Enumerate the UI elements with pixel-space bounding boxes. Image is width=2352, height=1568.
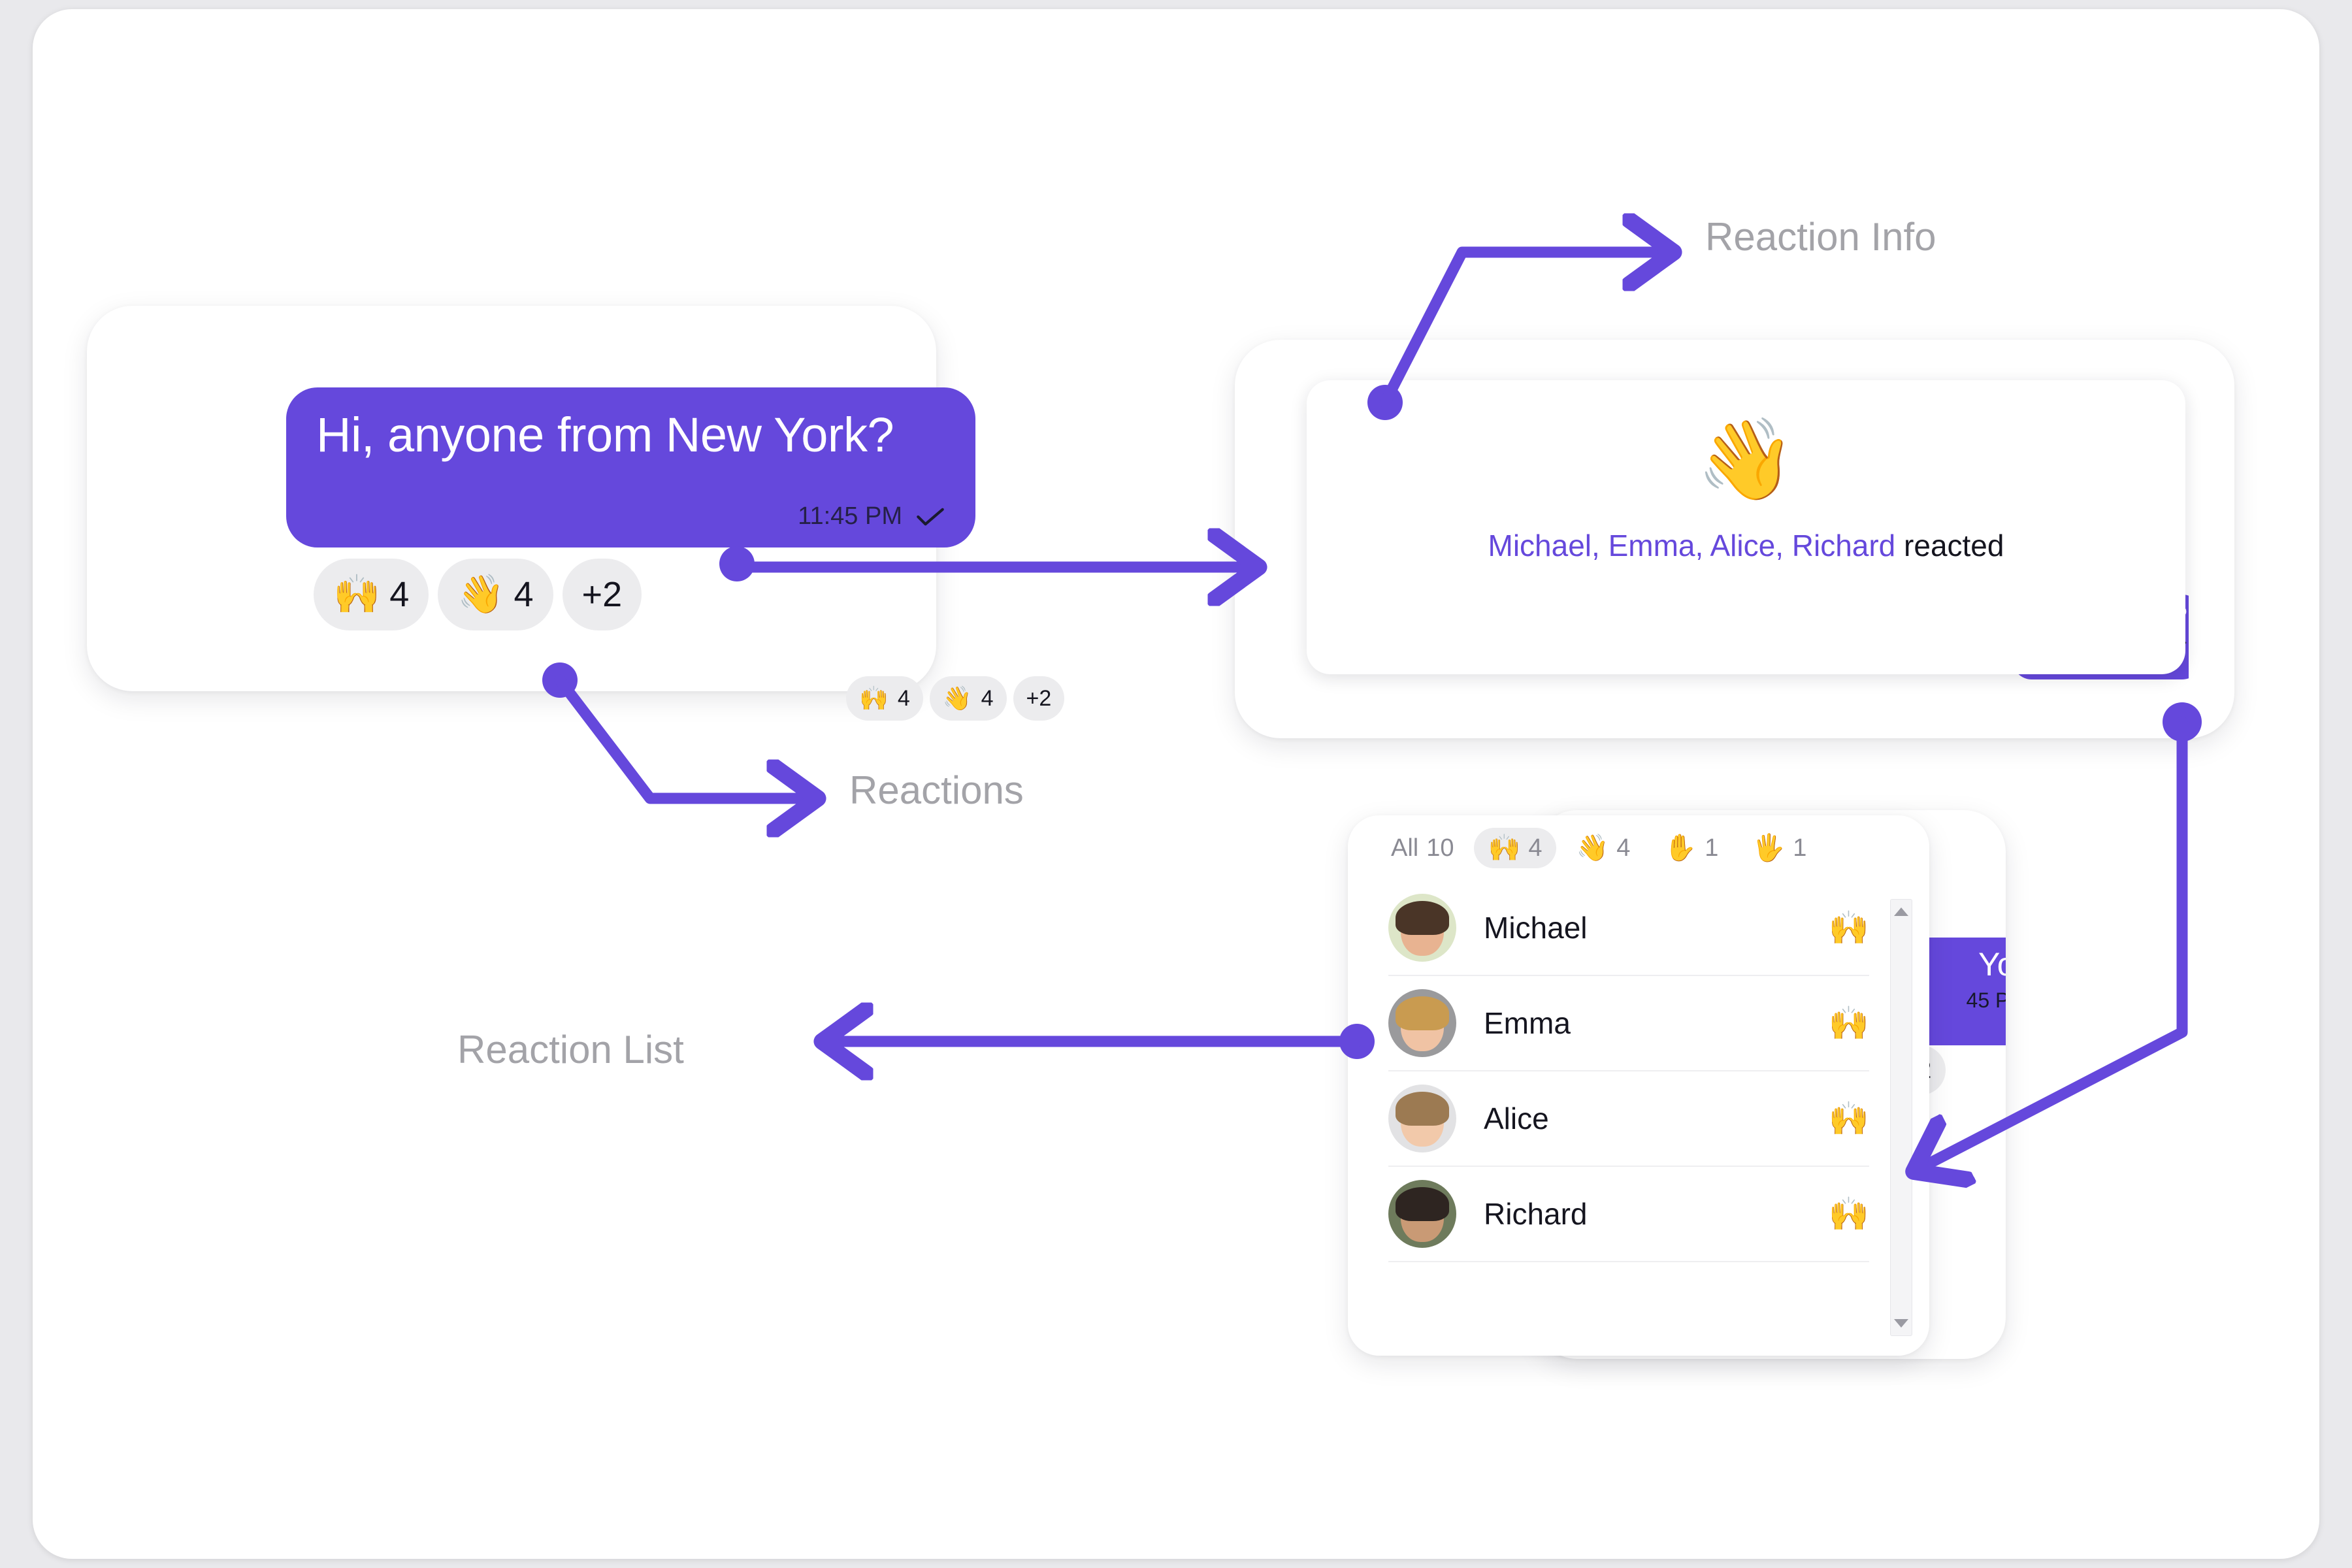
reaction-chip[interactable]: 🙌 4 xyxy=(314,559,429,630)
outgoing-message-bubble[interactable]: Hi, anyone from New York? 11:45 PM xyxy=(286,387,975,547)
list-item-name: Alice xyxy=(1484,1101,1549,1136)
reaction-count: 4 xyxy=(898,687,910,710)
scroll-up-arrow[interactable] xyxy=(1894,907,1908,916)
reaction-info-sheet: 👋 Michael, Emma, Alice, Richard reacted xyxy=(1307,380,2185,674)
tab-raised-hand[interactable]: ✋ 1 xyxy=(1650,828,1733,868)
raising-hands-emoji: 🙌 xyxy=(1829,1198,1869,1230)
raising-hands-emoji: 🙌 xyxy=(1829,911,1869,944)
message-text: Hi, anyone from New York? xyxy=(316,411,945,459)
alice-avatar xyxy=(1388,1085,1456,1152)
reaction-info-card: k? 45 PM 👋 Michael, Emma, Alice, Richard… xyxy=(1235,340,2234,738)
reactor-names: Michael, Emma, Alice, Richard xyxy=(1488,529,1896,563)
raising-hands-emoji: 🙌 xyxy=(333,576,380,613)
tab-count: 1 xyxy=(1793,834,1806,862)
screenshot-stage: Hi, anyone from New York? 11:45 PM 🙌 4 👋… xyxy=(0,0,2352,1568)
reaction-count: 4 xyxy=(514,577,533,612)
raised-hand-emoji: ✋ xyxy=(1664,835,1697,861)
list-item-name: Richard xyxy=(1484,1196,1588,1232)
list-scrollbar[interactable] xyxy=(1890,899,1912,1336)
tab-all-reactions[interactable]: All 10 xyxy=(1377,828,1469,868)
tab-count: 4 xyxy=(1616,834,1630,862)
raising-hands-emoji: 🙌 xyxy=(1829,1102,1869,1135)
reacted-summary: Michael, Emma, Alice, Richard reacted xyxy=(1488,528,2004,563)
check-icon xyxy=(915,507,945,527)
reaction-count: 4 xyxy=(389,577,409,612)
tab-waving-hand[interactable]: 👋 4 xyxy=(1561,828,1644,868)
waving-hand-emoji: 👋 xyxy=(943,687,972,710)
reacted-verb: reacted xyxy=(1895,529,2004,563)
scroll-down-arrow[interactable] xyxy=(1894,1319,1908,1328)
background-reaction-chips: 🙌 4 👋 4 +2 xyxy=(846,676,1064,721)
message-reaction-chips: 🙌 4 👋 4 +2 xyxy=(314,559,642,630)
tab-hand-splayed[interactable]: 🖐 1 xyxy=(1738,828,1821,868)
reaction-filter-tabs: All 10 🙌 4 👋 4 ✋ 1 🖐 1 xyxy=(1348,815,1929,881)
raised-hand-fingers-splayed-emoji: 🖐 xyxy=(1752,835,1785,861)
more-reactions-count: +2 xyxy=(1026,687,1052,710)
reaction-chip[interactable]: 👋 4 xyxy=(438,559,553,630)
richard-avatar xyxy=(1388,1180,1456,1248)
message-meta: 11:45 PM xyxy=(798,502,945,531)
emma-avatar xyxy=(1388,989,1456,1057)
tab-label: All xyxy=(1391,834,1418,862)
background-phone-time: 45 PM xyxy=(1967,988,2006,1013)
message-time: 11:45 PM xyxy=(798,502,902,531)
more-reactions-count: +2 xyxy=(582,577,623,612)
more-reactions-chip[interactable]: +2 xyxy=(1013,676,1065,721)
list-item[interactable]: Richard 🙌 xyxy=(1388,1167,1869,1262)
reaction-list-card: All 10 🙌 4 👋 4 ✋ 1 🖐 1 xyxy=(1348,815,1929,1356)
waving-hand-emoji: 👋 xyxy=(457,576,504,613)
reaction-user-list: Michael 🙌 Emma 🙌 Alice 🙌 xyxy=(1348,881,1882,1356)
michael-avatar xyxy=(1388,894,1456,962)
list-item-name: Michael xyxy=(1484,910,1588,945)
chat-message-card: Hi, anyone from New York? 11:45 PM xyxy=(87,306,936,691)
list-item-name: Emma xyxy=(1484,1005,1571,1041)
raising-hands-emoji: 🙌 xyxy=(1488,835,1521,861)
reaction-chip[interactable]: 👋 4 xyxy=(930,676,1007,721)
more-reactions-chip[interactable]: +2 xyxy=(563,559,642,630)
tab-count: 10 xyxy=(1426,834,1454,862)
list-item[interactable]: Alice 🙌 xyxy=(1388,1071,1869,1167)
tab-raising-hands[interactable]: 🙌 4 xyxy=(1474,828,1557,868)
reaction-chip[interactable]: 🙌 4 xyxy=(846,676,923,721)
waving-hand-emoji: 👋 xyxy=(1697,419,1796,499)
tab-count: 4 xyxy=(1528,834,1542,862)
raising-hands-emoji: 🙌 xyxy=(859,687,889,710)
tab-count: 1 xyxy=(1705,834,1718,862)
reaction-count: 4 xyxy=(981,687,994,710)
raising-hands-emoji: 🙌 xyxy=(1829,1007,1869,1039)
list-item[interactable]: Emma 🙌 xyxy=(1388,976,1869,1071)
list-item[interactable]: Michael 🙌 xyxy=(1388,881,1869,976)
waving-hand-emoji: 👋 xyxy=(1576,835,1609,861)
